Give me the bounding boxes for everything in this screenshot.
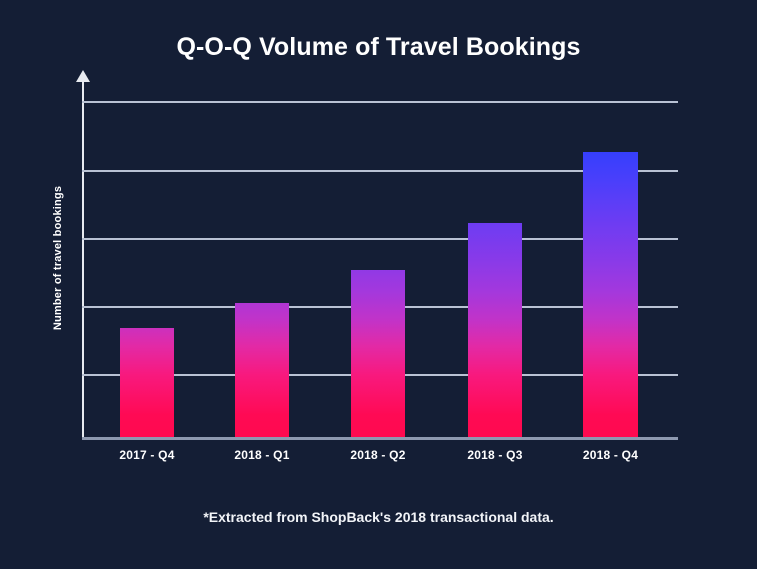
bar-2018-q2[interactable] (351, 270, 405, 437)
y-axis-label: Number of travel bookings (52, 186, 64, 330)
bars-group (82, 72, 678, 437)
bar-2018-q3[interactable] (468, 223, 522, 437)
bar-gradient-fill (120, 328, 174, 437)
axis-baseline (82, 437, 678, 440)
bar-2017-q4[interactable] (120, 328, 174, 437)
bar-gradient-fill (583, 152, 638, 437)
x-tick-label: 2018 - Q1 (215, 448, 309, 462)
chart-title: Q-O-Q Volume of Travel Bookings (0, 33, 757, 62)
bar-2018-q4[interactable] (583, 152, 638, 437)
x-tick-label: 2017 - Q4 (100, 448, 194, 462)
x-tick-label: 2018 - Q4 (563, 448, 658, 462)
x-axis-tick-labels: 2017 - Q42018 - Q12018 - Q22018 - Q32018… (82, 448, 678, 468)
bar-gradient-fill (235, 303, 289, 437)
bar-2018-q1[interactable] (235, 303, 289, 437)
x-tick-label: 2018 - Q3 (448, 448, 542, 462)
footnote: *Extracted from ShopBack's 2018 transact… (0, 509, 757, 525)
chart-canvas: Q-O-Q Volume of Travel Bookings Number o… (0, 0, 757, 569)
plot-area (82, 72, 678, 439)
bar-gradient-fill (468, 223, 522, 437)
bar-gradient-fill (351, 270, 405, 437)
x-tick-label: 2018 - Q2 (331, 448, 425, 462)
